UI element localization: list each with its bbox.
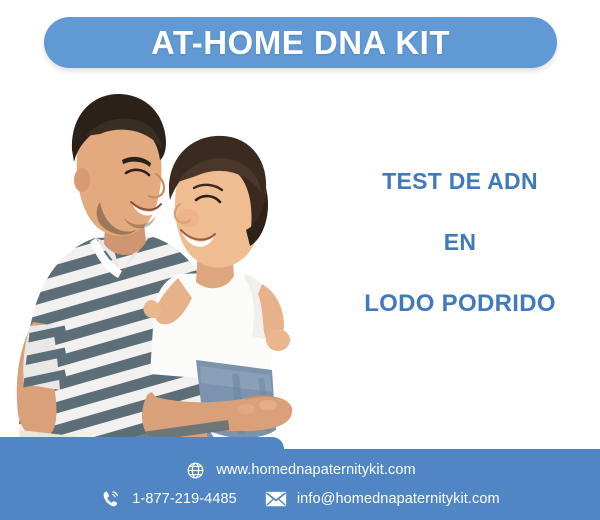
footer-phone-label: 1-877-219-4485 bbox=[132, 492, 237, 507]
envelope-icon bbox=[265, 488, 287, 510]
footer-row-website: www.homednapaternitykit.com bbox=[0, 459, 600, 481]
family-photo-illustration bbox=[0, 78, 320, 463]
footer-row-contact: 1-877-219-4485 info@homednapaternitykit.… bbox=[0, 488, 600, 510]
headline-line-1: TEST DE ADN bbox=[320, 170, 600, 193]
headline-block: TEST DE ADN EN LODO PODRIDO bbox=[320, 150, 600, 316]
headline-line-2: EN bbox=[320, 231, 600, 254]
footer-website-label: www.homednapaternitykit.com bbox=[216, 463, 415, 478]
phone-icon bbox=[100, 488, 122, 510]
footer-content: www.homednapaternitykit.com 1-877-219-44… bbox=[0, 449, 600, 520]
footer-website[interactable]: www.homednapaternitykit.com bbox=[184, 459, 415, 481]
title-banner: AT-HOME DNA KIT bbox=[44, 17, 557, 68]
footer-email[interactable]: info@homednapaternitykit.com bbox=[265, 488, 500, 510]
globe-icon bbox=[184, 459, 206, 481]
page-title: AT-HOME DNA KIT bbox=[151, 26, 450, 59]
poster: AT-HOME DNA KIT bbox=[0, 0, 600, 520]
footer-phone[interactable]: 1-877-219-4485 bbox=[100, 488, 237, 510]
footer-email-label: info@homednapaternitykit.com bbox=[297, 492, 500, 507]
family-photo bbox=[0, 78, 320, 463]
headline-line-3: LODO PODRIDO bbox=[320, 292, 600, 316]
